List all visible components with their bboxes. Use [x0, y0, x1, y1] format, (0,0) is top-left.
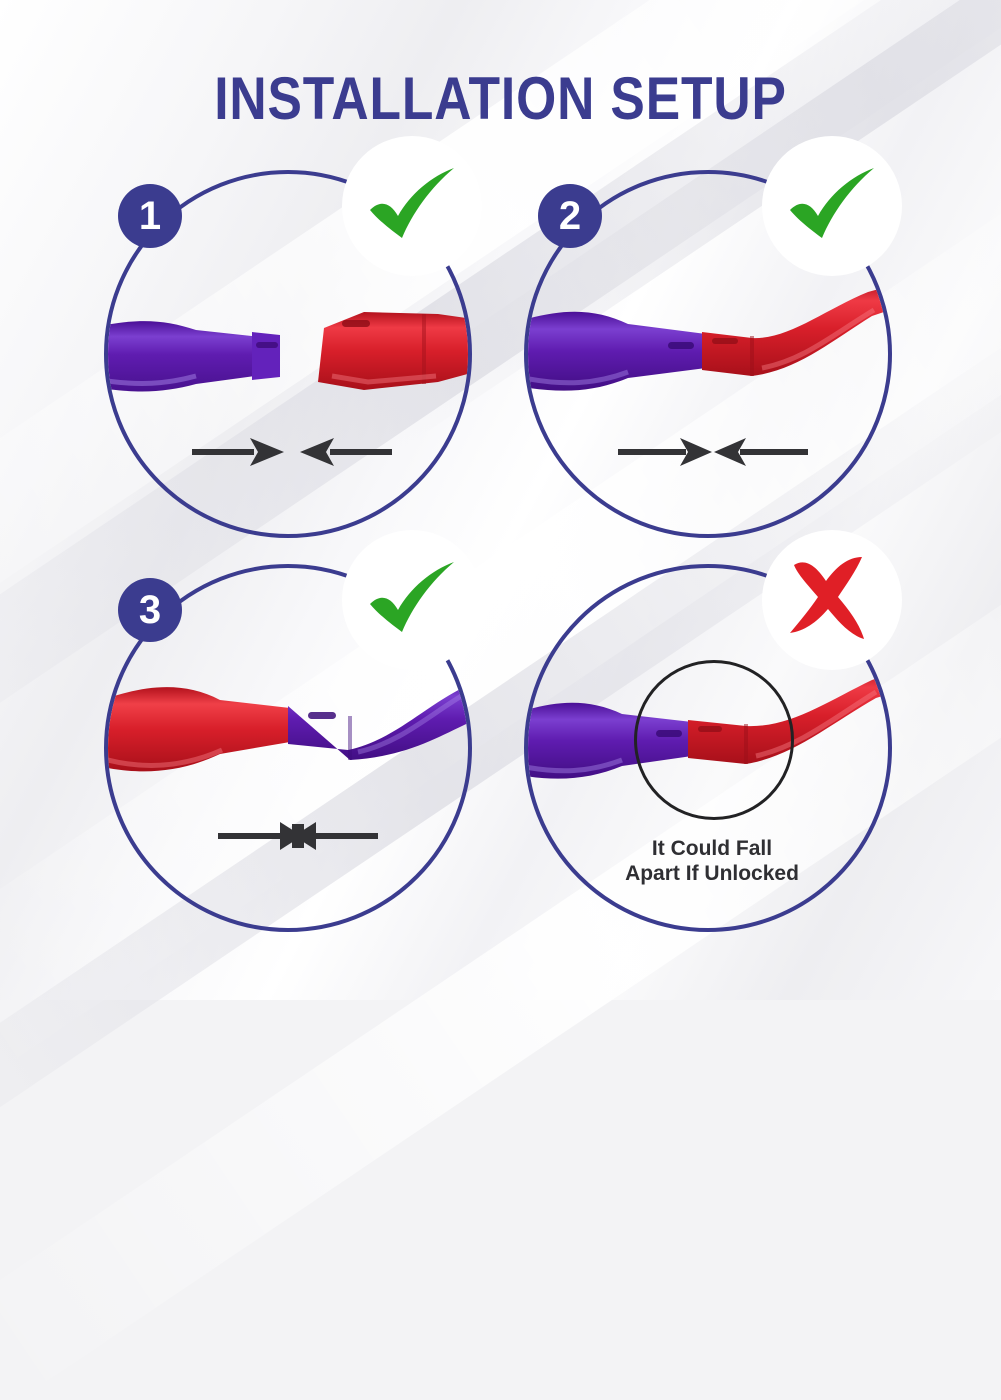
page-title: INSTALLATION SETUP	[70, 66, 931, 132]
hose-assembly-joined	[528, 282, 888, 412]
arrows-together	[218, 816, 378, 856]
hose-assembly-locked	[108, 664, 468, 804]
red-cross-icon	[762, 530, 902, 670]
green-check-icon	[342, 136, 482, 276]
panel-step-3: 3	[104, 564, 472, 932]
arrows-apart	[192, 432, 392, 472]
panel-step-1-badge: 1	[118, 184, 182, 248]
check-glyph	[364, 166, 460, 246]
panel-step-1: 1	[104, 170, 472, 538]
green-check-icon	[342, 530, 482, 670]
unlocked-joint-highlight	[634, 660, 794, 820]
panel-step-2: 2	[524, 170, 892, 538]
hose-segment-purple	[108, 304, 290, 404]
panel-step-3-badge: 3	[118, 578, 182, 642]
arrows-near	[618, 432, 808, 472]
cross-glyph	[782, 555, 882, 645]
check-glyph	[784, 166, 880, 246]
green-check-icon	[762, 136, 902, 276]
panel-step-2-badge: 2	[538, 184, 602, 248]
hose-segment-red	[308, 294, 468, 404]
panel-warning: It Could Fall Apart If Unlocked	[524, 564, 892, 932]
check-glyph	[364, 560, 460, 640]
warning-caption: It Could Fall Apart If Unlocked	[562, 836, 862, 886]
